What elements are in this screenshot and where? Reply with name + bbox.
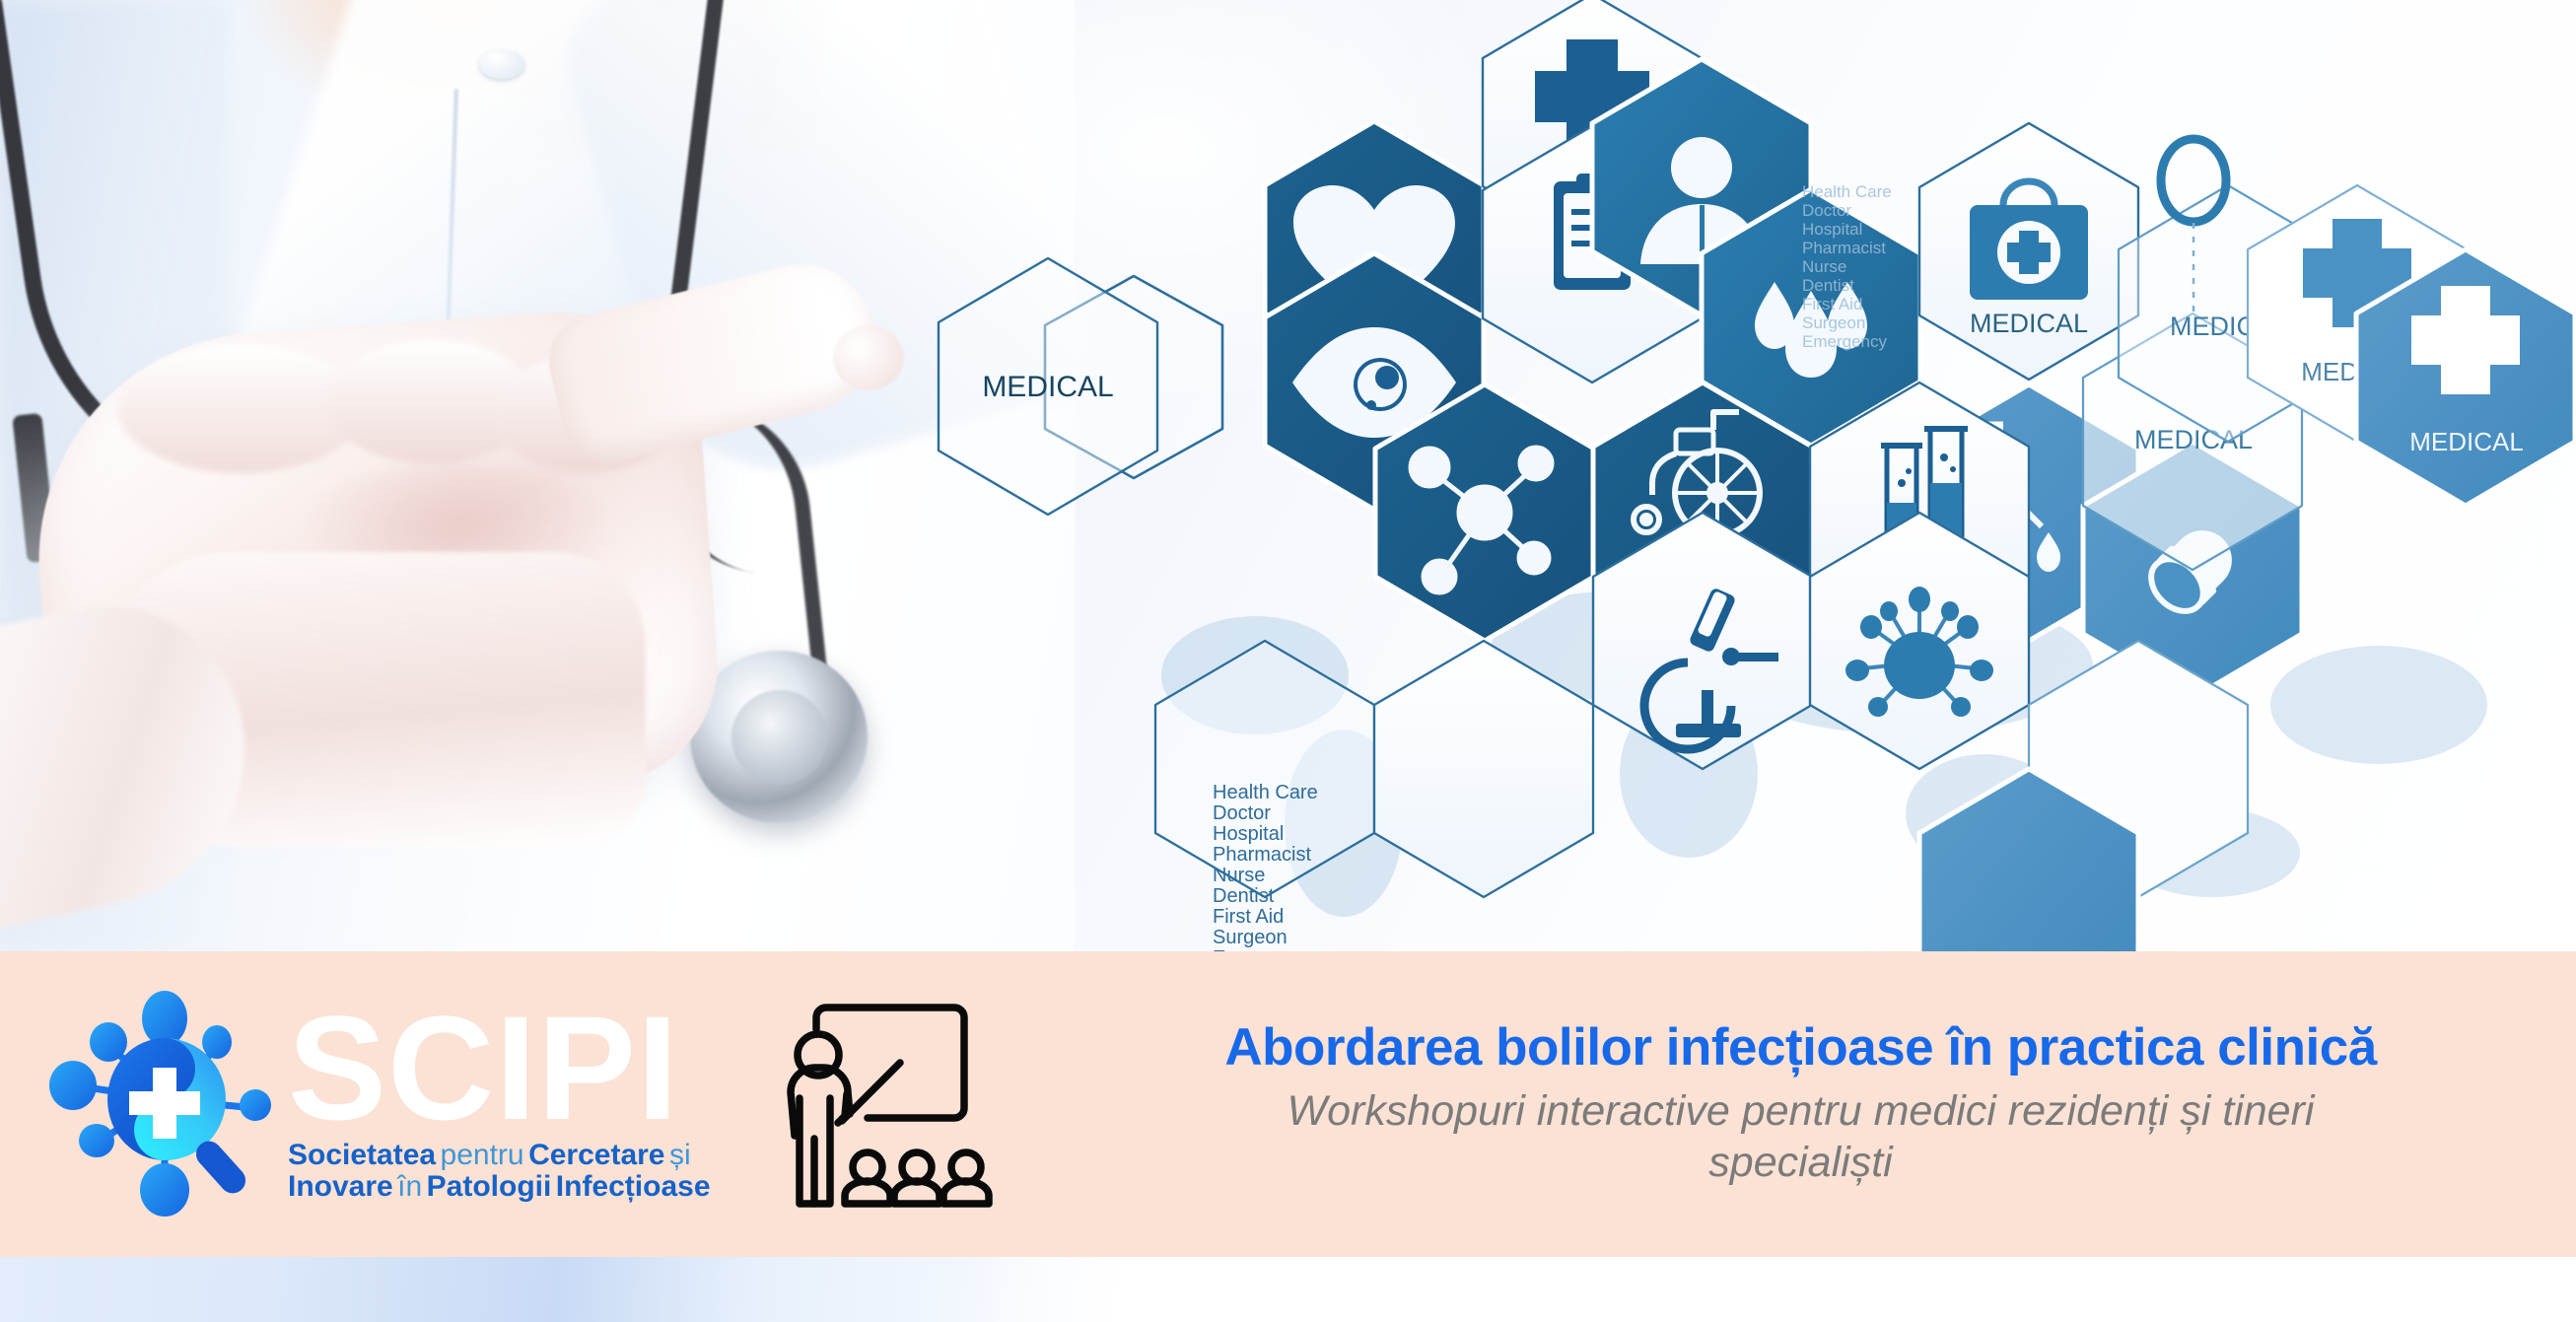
tagline-word: Inovare — [288, 1170, 393, 1203]
svg-text:Emergency: Emergency — [1802, 332, 1887, 351]
hex-label-firstaid-kit: MEDICAL — [1970, 309, 2088, 338]
svg-text:Health Care: Health Care — [1802, 182, 1892, 201]
svg-text:Surgeon: Surgeon — [1213, 927, 1288, 948]
svg-text:First Aid: First Aid — [1802, 295, 1862, 313]
scipi-logo[interactable]: SCIPI Societatea pentru Cercetare și Ino… — [0, 951, 749, 1257]
scipi-tagline-line-1: Societatea pentru Cercetare și — [288, 1140, 711, 1171]
svg-text:Health Care: Health Care — [1213, 782, 1318, 803]
presenter-whiteboard-audience-icon — [769, 978, 1025, 1230]
hex-first-aid-kit[interactable]: MEDICAL — [1919, 123, 2138, 380]
scipi-virus-magnifier-logo-icon — [47, 981, 282, 1227]
scipi-tagline: Societatea pentru Cercetare și Inovare î… — [288, 1140, 711, 1203]
scipi-tagline-line-2: Inovare în Patologii Infecțioase — [288, 1171, 711, 1203]
workshop-text: Abordarea bolilor infecțioase în practic… — [1045, 1019, 2576, 1188]
photo-bleed-fade — [966, 1257, 1262, 1322]
workshop-title: Abordarea bolilor infecțioase în practic… — [1224, 1019, 2376, 1077]
scipi-wordmark: SCIPI — [288, 1006, 711, 1130]
svg-text:First Aid: First Aid — [1213, 906, 1284, 928]
svg-text:Nurse: Nurse — [1213, 865, 1265, 886]
hex-keywords-left[interactable]: Health Care Doctor Hospital Pharmacist N… — [1155, 641, 1374, 951]
hexagon-infographic: MEDICAL MEDICAL — [0, 0, 2576, 951]
svg-text:Dentist: Dentist — [1213, 885, 1275, 907]
hexagon-grid-svg: MEDICAL MEDICAL — [0, 0, 2576, 951]
tagline-word: și — [669, 1139, 691, 1171]
svg-text:Doctor: Doctor — [1802, 201, 1851, 220]
workshop-banner: SCIPI Societatea pentru Cercetare și Ino… — [0, 951, 2576, 1257]
hero-photo-section: MEDICAL MEDICAL — [0, 0, 2576, 951]
workshop-icon-wrap — [749, 951, 1045, 1257]
svg-text:Pharmacist: Pharmacist — [1213, 844, 1311, 866]
svg-text:Dentist: Dentist — [1802, 276, 1854, 295]
hex-label-left-empty: MEDICAL — [982, 371, 1113, 403]
svg-text:Surgeon: Surgeon — [1802, 313, 1865, 332]
tagline-word: pentru — [441, 1139, 524, 1171]
svg-text:Pharmacist: Pharmacist — [1802, 239, 1886, 257]
tagline-word: Infecțioase — [556, 1170, 711, 1203]
tagline-word: Patologii — [427, 1170, 552, 1203]
svg-text:Hospital: Hospital — [1802, 220, 1862, 239]
banner-page: MEDICAL MEDICAL — [0, 0, 2576, 1322]
svg-text:Hospital: Hospital — [1213, 823, 1284, 845]
tagline-word: Societatea — [288, 1139, 436, 1171]
hex-label-cross-filled: MEDICAL — [2409, 427, 2524, 456]
workshop-subtitle: Workshopuri interactive pentru medici re… — [1244, 1085, 2358, 1189]
page-footer-strip — [0, 1257, 2576, 1322]
tagline-word: în — [397, 1170, 422, 1203]
svg-text:Nurse: Nurse — [1802, 257, 1846, 276]
svg-text:Doctor: Doctor — [1213, 802, 1271, 824]
tagline-word: Cercetare — [528, 1139, 664, 1171]
